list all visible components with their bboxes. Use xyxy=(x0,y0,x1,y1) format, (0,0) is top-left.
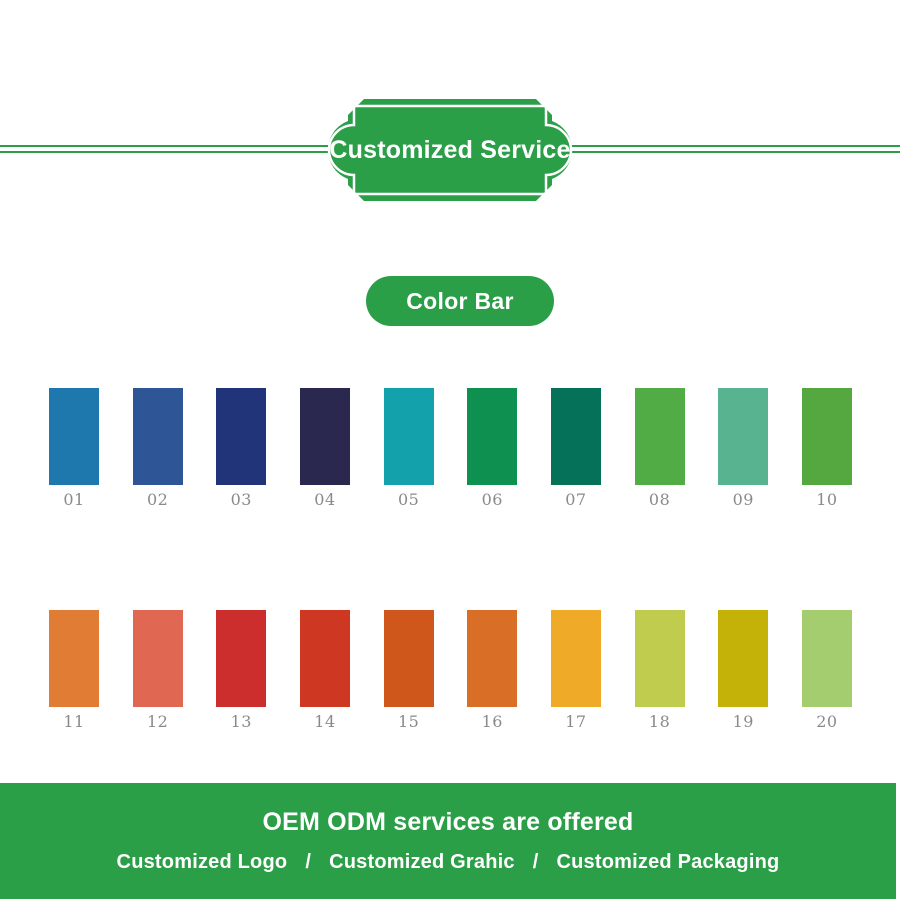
swatch-cell[interactable]: 08 xyxy=(635,388,685,509)
swatch-chip[interactable] xyxy=(300,388,350,485)
swatch-row-2: 11121314151617181920 xyxy=(49,610,852,731)
swatch-label: 04 xyxy=(314,491,335,509)
swatch-chip[interactable] xyxy=(216,610,266,707)
color-swatch-grid: 01020304050607080910 1112131415161718192… xyxy=(49,388,852,730)
swatch-cell[interactable]: 14 xyxy=(300,610,350,731)
section-pill-color-bar: Color Bar xyxy=(366,276,554,326)
swatch-chip[interactable] xyxy=(384,388,434,485)
swatch-chip[interactable] xyxy=(384,610,434,707)
swatch-cell[interactable]: 06 xyxy=(467,388,517,509)
swatch-label: 16 xyxy=(482,713,503,731)
swatch-label: 12 xyxy=(147,713,168,731)
swatch-label: 13 xyxy=(231,713,252,731)
swatch-cell[interactable]: 13 xyxy=(216,610,266,731)
swatch-chip[interactable] xyxy=(551,388,601,485)
footer-services: Customized Logo/Customized Grahic/Custom… xyxy=(117,851,780,874)
header-ribbon: Customized Service xyxy=(0,95,900,205)
footer-banner: OEM ODM services are offered Customized … xyxy=(0,783,896,899)
swatch-chip[interactable] xyxy=(300,610,350,707)
swatch-label: 06 xyxy=(482,491,503,509)
swatch-chip[interactable] xyxy=(802,388,852,485)
swatch-label: 07 xyxy=(565,491,586,509)
swatch-label: 18 xyxy=(649,713,670,731)
page-root: Customized Service Color Bar 01020304050… xyxy=(0,0,900,899)
footer-separator: / xyxy=(515,851,557,874)
swatch-chip[interactable] xyxy=(133,610,183,707)
swatch-label: 15 xyxy=(398,713,419,731)
swatch-chip[interactable] xyxy=(49,610,99,707)
swatch-chip[interactable] xyxy=(216,388,266,485)
swatch-cell[interactable]: 15 xyxy=(384,610,434,731)
swatch-label: 03 xyxy=(231,491,252,509)
swatch-label: 11 xyxy=(63,713,84,731)
swatch-cell[interactable]: 12 xyxy=(133,610,183,731)
swatch-cell[interactable]: 05 xyxy=(384,388,434,509)
swatch-cell[interactable]: 17 xyxy=(551,610,601,731)
page-title: Customized Service xyxy=(318,95,582,205)
swatch-cell[interactable]: 19 xyxy=(718,610,768,731)
footer-service-item: Customized Packaging xyxy=(557,851,780,874)
swatch-cell[interactable]: 18 xyxy=(635,610,685,731)
swatch-chip[interactable] xyxy=(467,388,517,485)
swatch-cell[interactable]: 10 xyxy=(802,388,852,509)
swatch-chip[interactable] xyxy=(718,388,768,485)
swatch-cell[interactable]: 02 xyxy=(133,388,183,509)
swatch-cell[interactable]: 04 xyxy=(300,388,350,509)
swatch-label: 01 xyxy=(63,491,84,509)
swatch-label: 10 xyxy=(816,491,837,509)
footer-service-item: Customized Grahic xyxy=(329,851,515,874)
swatch-cell[interactable]: 09 xyxy=(718,388,768,509)
swatch-cell[interactable]: 20 xyxy=(802,610,852,731)
swatch-cell[interactable]: 16 xyxy=(467,610,517,731)
swatch-label: 02 xyxy=(147,491,168,509)
swatch-label: 14 xyxy=(314,713,335,731)
footer-headline: OEM ODM services are offered xyxy=(262,808,633,837)
swatch-chip[interactable] xyxy=(551,610,601,707)
swatch-row-1: 01020304050607080910 xyxy=(49,388,852,509)
swatch-cell[interactable]: 11 xyxy=(49,610,99,731)
swatch-cell[interactable]: 01 xyxy=(49,388,99,509)
swatch-chip[interactable] xyxy=(635,388,685,485)
swatch-chip[interactable] xyxy=(635,610,685,707)
swatch-label: 09 xyxy=(733,491,754,509)
section-pill-label: Color Bar xyxy=(406,288,514,315)
footer-separator: / xyxy=(287,851,329,874)
swatch-label: 17 xyxy=(565,713,586,731)
swatch-label: 08 xyxy=(649,491,670,509)
swatch-label: 05 xyxy=(398,491,419,509)
swatch-chip[interactable] xyxy=(802,610,852,707)
header-plaque: Customized Service xyxy=(318,95,582,205)
swatch-label: 19 xyxy=(733,713,754,731)
swatch-cell[interactable]: 03 xyxy=(216,388,266,509)
swatch-chip[interactable] xyxy=(718,610,768,707)
swatch-chip[interactable] xyxy=(49,388,99,485)
swatch-chip[interactable] xyxy=(133,388,183,485)
swatch-cell[interactable]: 07 xyxy=(551,388,601,509)
footer-service-item: Customized Logo xyxy=(117,851,288,874)
swatch-chip[interactable] xyxy=(467,610,517,707)
swatch-label: 20 xyxy=(816,713,837,731)
